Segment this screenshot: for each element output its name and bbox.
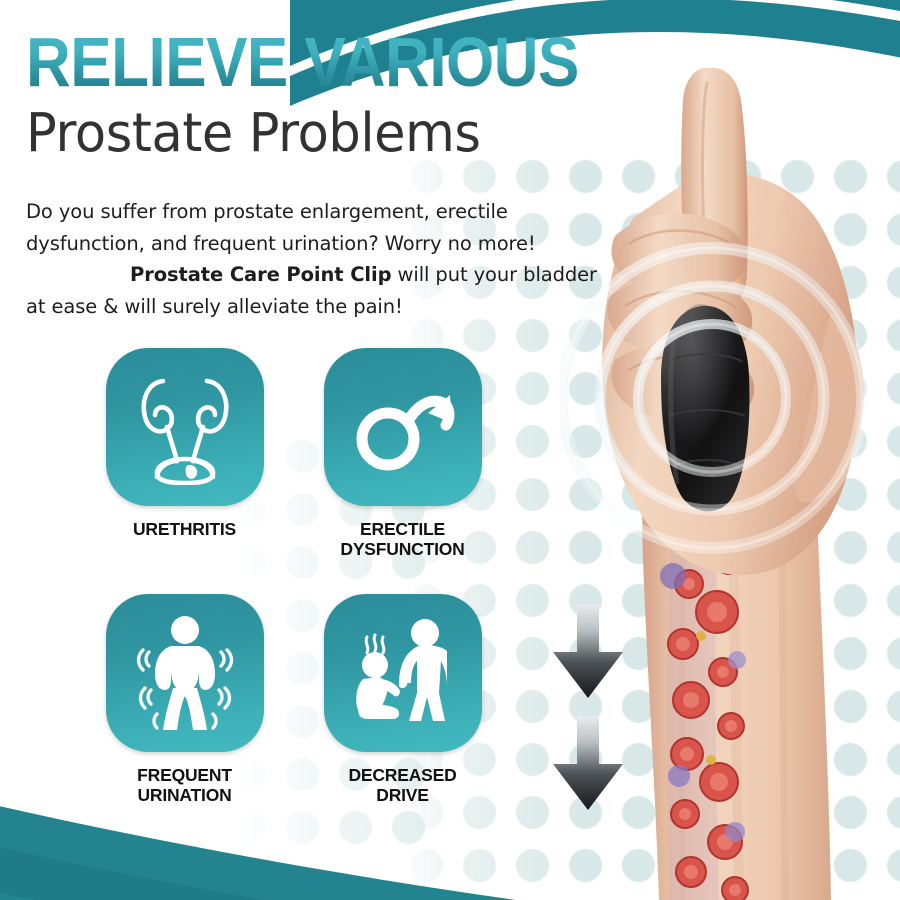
symptom-card-decreased-drive[interactable]: DECREASED DRIVE: [300, 594, 505, 805]
headline-block: RELIEVE VARIOUS Prostate Problems: [26, 28, 666, 158]
body-line-3: will put your bladder: [391, 263, 597, 286]
page-title-secondary: Prostate Problems: [26, 107, 666, 161]
symptom-tile[interactable]: [324, 348, 482, 506]
symptom-card-urethritis[interactable]: URETHRITIS: [82, 348, 287, 540]
couple-rejection-icon: [347, 617, 459, 729]
page-title-primary: RELIEVE VARIOUS: [26, 28, 666, 99]
symptom-label: ERECTILE DYSFUNCTION: [300, 520, 505, 559]
symptom-tile[interactable]: [324, 594, 482, 752]
body-line-2: dysfunction, and frequent urination? Wor…: [26, 232, 536, 255]
symptom-card-erectile-dysfunction[interactable]: ERECTILE DYSFUNCTION: [300, 348, 505, 559]
poster-canvas: RELIEVE VARIOUS Prostate Problems Do you…: [0, 0, 900, 900]
urinary-tract-bladder-icon: [133, 369, 237, 485]
body-copy: Do you suffer from prostate enlargement,…: [26, 196, 616, 322]
body-line-1: Do you suffer from prostate enlargement,…: [26, 200, 508, 223]
symptom-tile[interactable]: [106, 594, 264, 752]
downward-flow-arrows: [543, 604, 633, 816]
symptom-label: URETHRITIS: [82, 520, 287, 540]
arrow-down-2: [553, 716, 623, 810]
symptom-tile[interactable]: [106, 348, 264, 506]
body-line-4: at ease & will surely alleviate the pain…: [26, 295, 403, 318]
product-name: Prostate Care Point Clip: [130, 263, 391, 286]
arrow-down-1: [553, 604, 623, 698]
male-symbol-arrow-icon: [350, 379, 456, 475]
symptom-label: DECREASED DRIVE: [300, 766, 505, 805]
person-holding-bladder-icon: [131, 614, 239, 732]
symptom-label: FREQUENT URINATION: [82, 766, 287, 805]
symptom-card-frequent-urination[interactable]: FREQUENT URINATION: [82, 594, 287, 805]
